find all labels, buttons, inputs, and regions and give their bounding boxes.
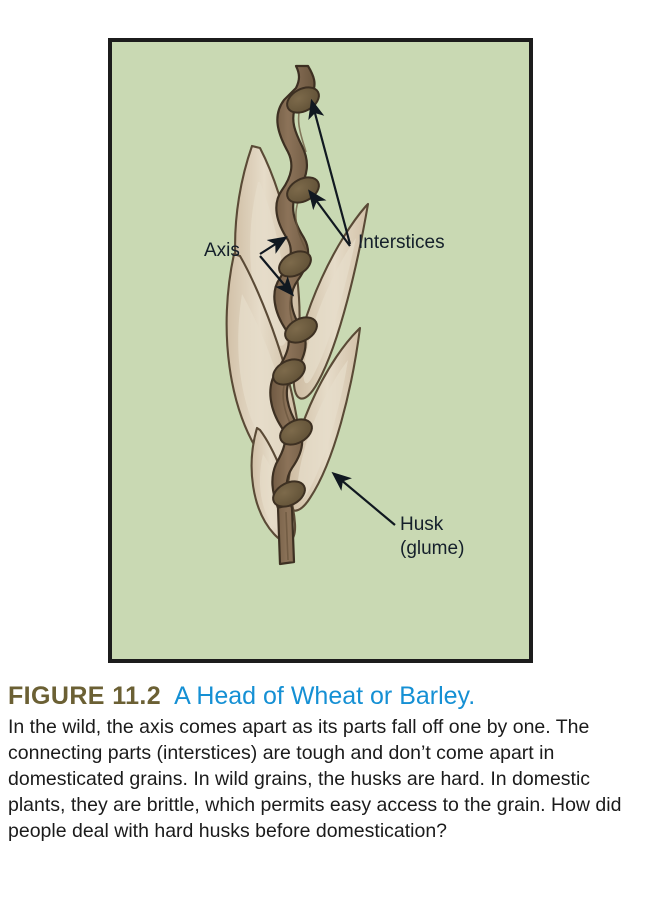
caption-body-text: In the wild, the axis comes apart as its… (8, 715, 633, 845)
label-interstices: Interstices (358, 232, 445, 253)
label-glume: (glume) (400, 538, 464, 559)
wheat-head-illustration: Axis Interstices Husk (glume) (112, 42, 529, 659)
caption-title-line: FIGURE 11.2A Head of Wheat or Barley. (8, 684, 656, 709)
label-axis: Axis (204, 240, 240, 261)
figure-caption: FIGURE 11.2A Head of Wheat or Barley. In… (8, 684, 656, 845)
label-husk: Husk (400, 514, 444, 535)
figure-panel: Axis Interstices Husk (glume) (108, 38, 533, 663)
figure-number: FIGURE 11.2 (8, 682, 161, 710)
figure-title: A Head of Wheat or Barley. (174, 682, 475, 710)
arrow-interstices-upper (312, 102, 350, 244)
arrow-husk (334, 474, 395, 525)
